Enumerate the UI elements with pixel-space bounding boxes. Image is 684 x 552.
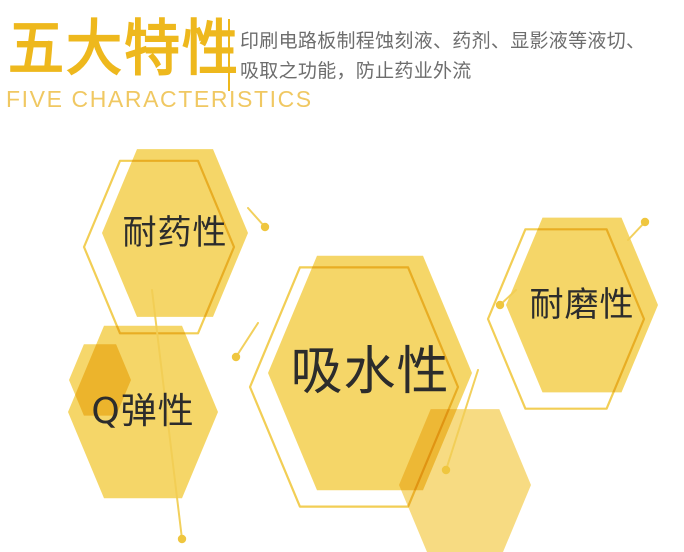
dot-bottom-hex-icon xyxy=(442,466,450,474)
header-description: 印刷电路板制程蚀刻液、药剂、显影液等液切、吸取之功能，防止药业外流 xyxy=(240,26,660,86)
dot-resist-right-icon xyxy=(261,223,269,231)
dot-wear-top-icon xyxy=(641,218,649,226)
page-title: 五大特性 xyxy=(8,16,240,83)
header-divider xyxy=(228,19,230,91)
hexagon-label-wear-resist: 耐磨性 xyxy=(506,281,658,329)
hexagon-diagram: 耐药性Q弹性吸水性耐磨性 xyxy=(0,130,684,552)
hexagon-label-q-elastic: Q弹性 xyxy=(68,386,218,437)
dot-resist-bottom-icon xyxy=(178,535,186,543)
hexagon-label-resist-chemical: 耐药性 xyxy=(102,209,248,257)
hexagon-label-water-absorb: 吸水性 xyxy=(268,336,472,410)
connector-line-2 xyxy=(236,323,258,357)
dot-wear-left-icon xyxy=(496,301,504,309)
infographic-canvas: 五大特性 FIVE CHARACTERISTICS 印刷电路板制程蚀刻液、药剂、… xyxy=(0,0,684,552)
dot-water-left-icon xyxy=(232,353,240,361)
page-subtitle: FIVE CHARACTERISTICS xyxy=(6,86,313,112)
header-section: 五大特性 FIVE CHARACTERISTICS 印刷电路板制程蚀刻液、药剂、… xyxy=(0,0,684,130)
